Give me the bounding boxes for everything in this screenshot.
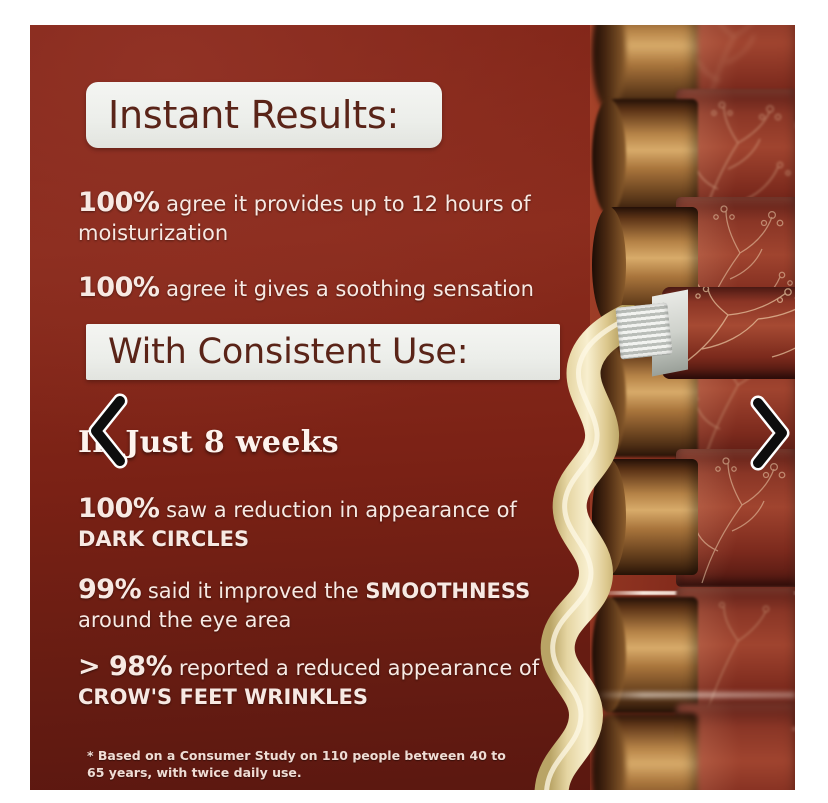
claim-percent: 100% — [78, 187, 159, 218]
promo-slide: Instant Results: 100% agree it provides … — [30, 25, 795, 790]
claim-percent: 100% — [78, 493, 159, 524]
chevron-right-icon[interactable] — [746, 395, 792, 471]
consistent-use-banner-label: With Consistent Use: — [108, 332, 468, 372]
claim-emphasis: SMOOTHNESS — [365, 579, 530, 603]
claim-percent: > 98% — [78, 651, 172, 682]
claim-text: agree it gives a soothing sensation — [166, 277, 534, 301]
claim-text: saw a reduction in appearance of — [166, 498, 517, 522]
claim-text: reported a reduced appearance of — [179, 656, 539, 680]
claim-crows-feet: > 98% reported a reduced appearance of C… — [78, 652, 578, 712]
tube-rim — [600, 693, 795, 697]
tube-cap — [608, 459, 698, 575]
carousel-prev-button[interactable] — [86, 393, 132, 474]
claim-percent: 100% — [78, 272, 159, 303]
carousel-next-button[interactable] — [746, 395, 792, 476]
claim-emphasis: CROW'S FEET WRINKLES — [78, 685, 368, 709]
instant-results-banner: Instant Results: — [86, 82, 442, 148]
product-tube — [590, 697, 795, 790]
tube-cap — [608, 713, 698, 790]
claim-percent: 99% — [78, 574, 141, 605]
claim-moisturization: 100% agree it provides up to 12 hours of… — [78, 188, 578, 248]
claim-text: said it improved the — [148, 579, 366, 603]
chevron-left-icon[interactable] — [86, 393, 132, 469]
claim-emphasis: DARK CIRCLES — [78, 527, 249, 551]
claim-text-tail: around the eye area — [78, 608, 291, 632]
dispensing-tube-neck — [615, 302, 672, 359]
screenshot-root: Instant Results: 100% agree it provides … — [0, 0, 828, 803]
consistent-use-banner: With Consistent Use: — [86, 324, 560, 380]
dispensing-tube — [590, 287, 795, 383]
claim-smoothness: 99% said it improved the SMOOTHNESS arou… — [78, 575, 578, 635]
claim-soothing: 100% agree it gives a soothing sensation — [78, 273, 578, 304]
claim-dark-circles: 100% saw a reduction in appearance of DA… — [78, 494, 578, 554]
study-footnote: * Based on a Consumer Study on 110 peopl… — [87, 747, 527, 781]
instant-results-banner-label: Instant Results: — [108, 93, 399, 137]
